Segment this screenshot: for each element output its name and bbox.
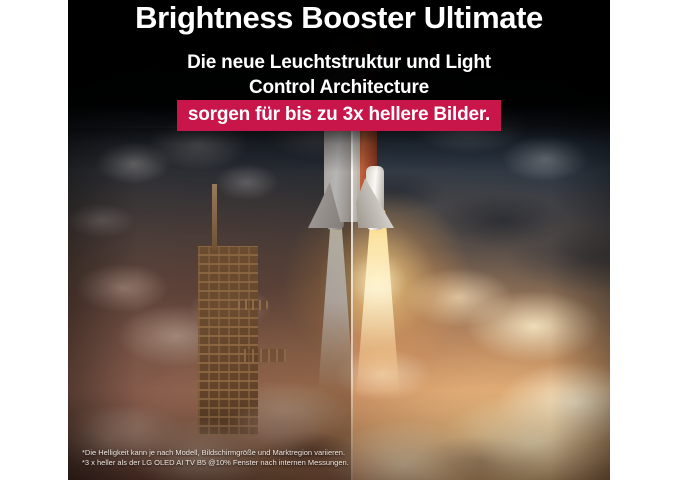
footnote-line-2: *3 x heller als der LG OLED AI TV B5 @10…	[82, 458, 349, 468]
before-after-split-line	[351, 128, 353, 480]
footnote-line-1: *Die Helligkeit kann je nach Modell, Bil…	[82, 448, 349, 458]
subheadline-line-2: Control Architecture	[68, 75, 610, 100]
subheadline-line-1: Die neue Leuchtstruktur und Light	[68, 50, 610, 75]
highlight-badge: sorgen für bis zu 3x hellere Bilder.	[177, 100, 501, 131]
footnote-block: *Die Helligkeit kann je nach Modell, Bil…	[82, 448, 349, 468]
subheadline: Die neue Leuchtstruktur und Light Contro…	[68, 50, 610, 100]
page-title: Brightness Booster Ultimate	[68, 0, 610, 36]
lg-brightness-booster-banner: Brightness Booster Ultimate Die neue Leu…	[68, 0, 610, 480]
highlight-row: sorgen für bis zu 3x hellere Bilder.	[68, 100, 610, 131]
